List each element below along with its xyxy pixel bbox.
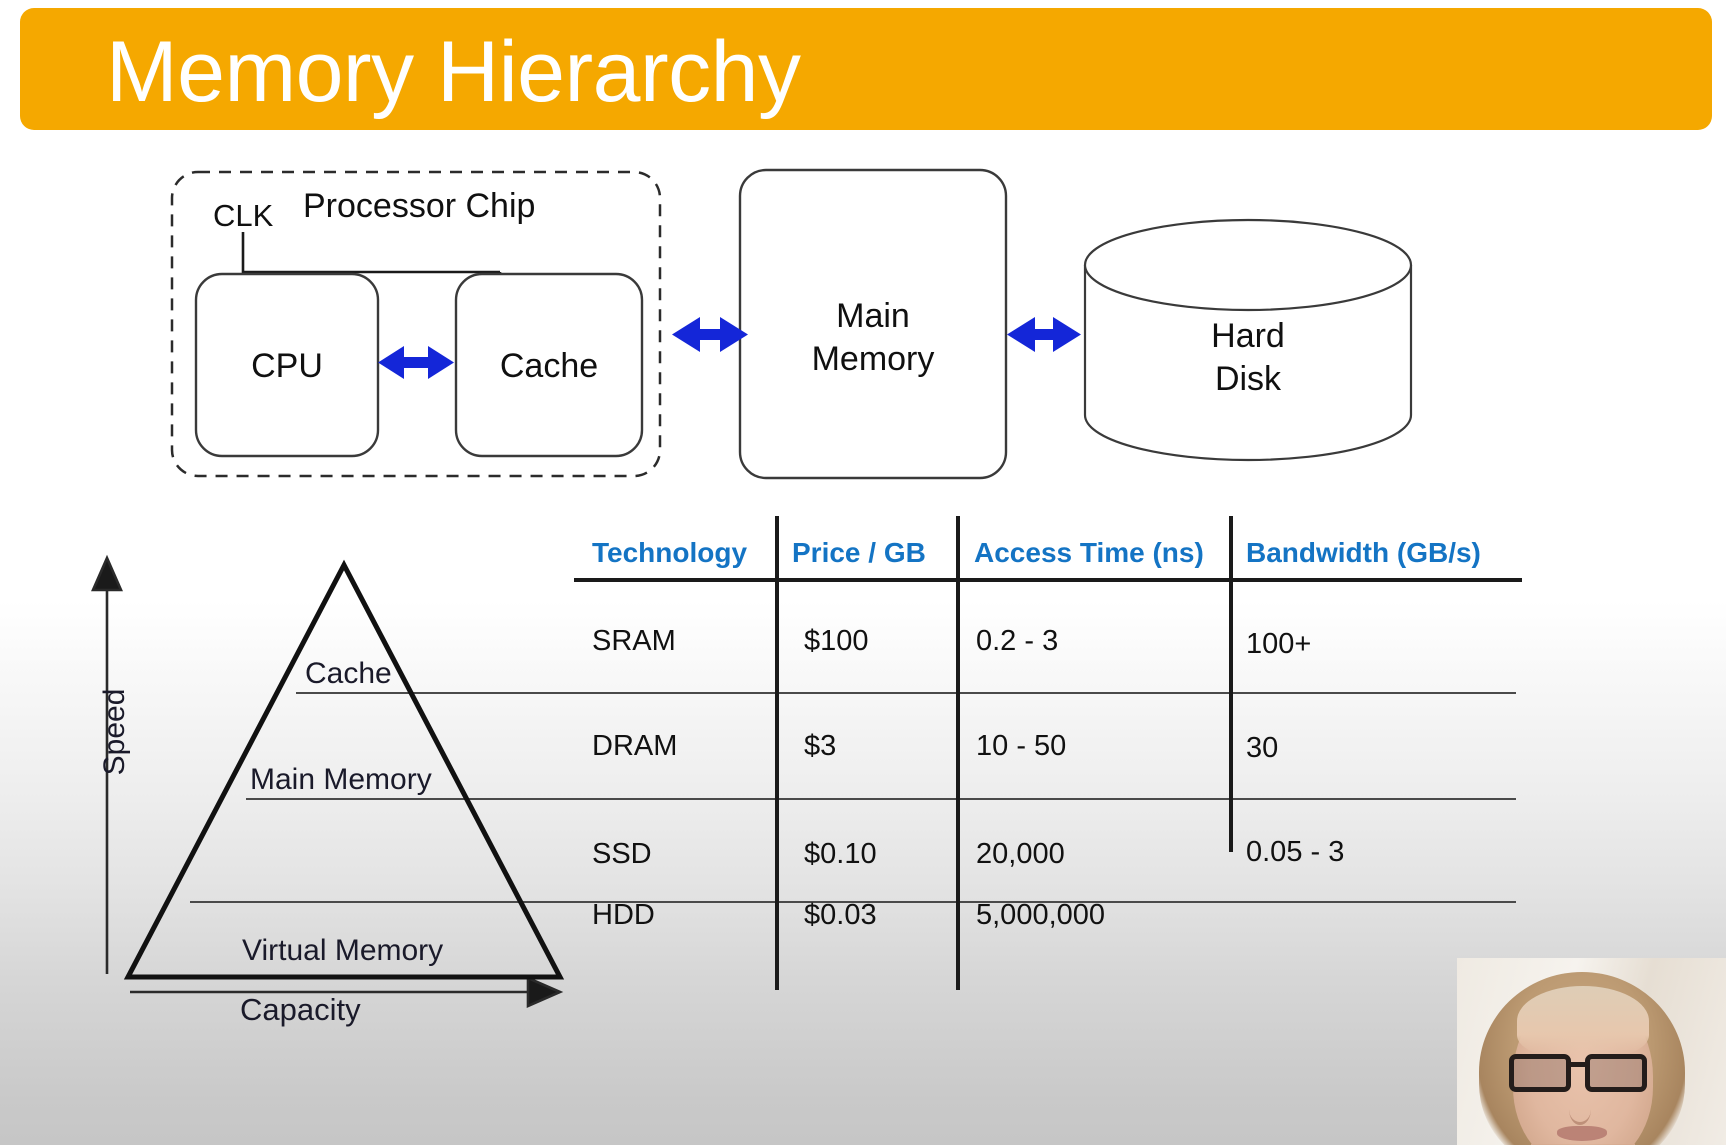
pyramid-tier-virtual-memory: Virtual Memory [242,933,443,969]
hard-disk-label-line2: Disk [1115,359,1381,399]
presenter-mouth [1557,1126,1607,1141]
table-row: 100+ [1246,626,1311,662]
speed-axis-label: Speed [98,657,132,807]
table-row: 20,000 [976,836,1065,872]
pyramid-tier-main-memory: Main Memory [250,762,432,798]
presenter-nose [1569,1094,1591,1125]
glasses-left-lens [1509,1054,1571,1092]
table-vrule-2 [956,516,960,990]
cache-memory-arrow [672,317,748,352]
main-memory-label-line1: Main [740,296,1006,336]
table-row: $0.10 [804,836,877,872]
pyramid-tier-cache: Cache [305,656,392,692]
table-row: 30 [1246,730,1278,766]
table-row: 0.05 - 3 [1246,834,1344,870]
slide-title-bar: Memory Hierarchy [20,8,1712,130]
table-header-bandwidth: Bandwidth (GB/s) [1246,536,1481,570]
table-row: 10 - 50 [976,728,1066,764]
cpu-clock-triangle [219,276,267,300]
cpu-cache-arrow [378,346,454,379]
processor-chip-label: Processor Chip [303,186,535,226]
memory-disk-arrow [1007,317,1081,352]
main-memory-label-line2: Memory [740,339,1006,379]
table-row: DRAM [592,728,677,764]
table-header-price: Price / GB [792,536,926,570]
table-row: SRAM [592,623,676,659]
presenter-forehead [1517,986,1649,1056]
table-row: 0.2 - 3 [976,623,1058,659]
glasses-bridge [1571,1062,1585,1067]
table-row: $100 [804,623,869,659]
cpu-label: CPU [196,346,378,386]
page-title: Memory Hierarchy [106,14,800,130]
glasses-right-lens [1585,1054,1647,1092]
slide-canvas: Memory Hierarchy [0,0,1726,1145]
clk-label: CLK [213,196,273,236]
memory-specs-table: Technology Price / GB Access Time (ns) B… [568,516,1528,1036]
table-header-underline [574,578,1522,582]
table-header-technology: Technology [592,536,747,570]
cache-clock-triangle [476,276,524,300]
presenter-video-overlay[interactable] [1457,958,1726,1145]
clk-wire [243,232,500,276]
table-row: 5,000,000 [976,897,1105,933]
table-vrule-3 [1229,516,1233,852]
table-row: HDD [592,897,655,933]
table-header-access-time: Access Time (ns) [974,536,1204,570]
table-row: SSD [592,836,652,872]
memory-pyramid: Speed Capacity Cache Main Memory Virtual… [60,540,620,1140]
table-vrule-1 [775,516,779,990]
cache-label: Cache [456,346,642,386]
capacity-axis-label: Capacity [240,992,361,1028]
hard-disk-label-line1: Hard [1115,316,1381,356]
table-row: $0.03 [804,897,877,933]
table-row: $3 [804,728,836,764]
